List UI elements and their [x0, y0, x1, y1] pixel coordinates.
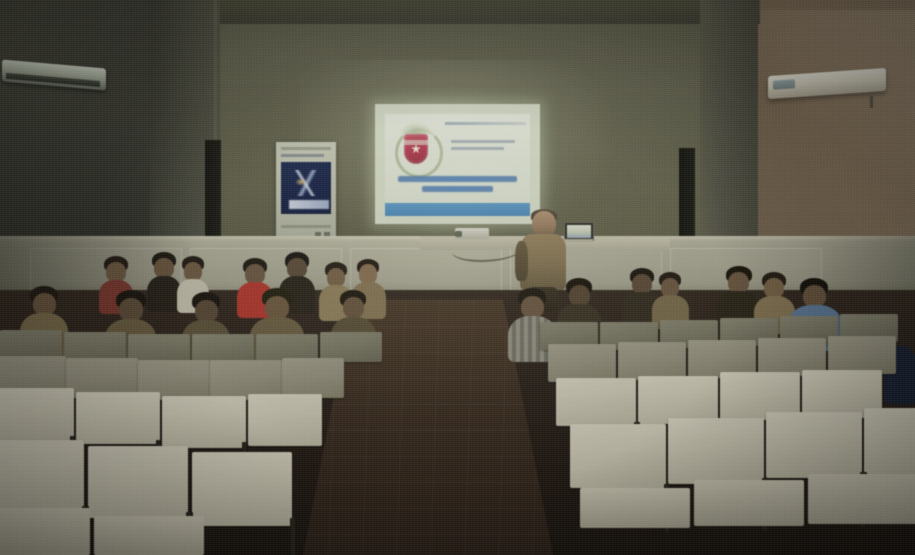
attendee-head — [119, 298, 143, 321]
slide-body-text — [451, 140, 524, 154]
attendee-head — [728, 272, 749, 293]
presenter-arm — [515, 241, 528, 281]
chair-seat[interactable] — [0, 508, 90, 555]
empty-chair[interactable] — [248, 394, 322, 446]
empty-chair[interactable] — [556, 378, 636, 426]
attendee-head — [154, 258, 174, 278]
air-conditioner-right-vent — [773, 79, 795, 90]
attendee-head — [106, 262, 126, 282]
attendee-head — [343, 297, 364, 318]
attendee-head — [195, 300, 218, 322]
slide-title-line — [422, 186, 492, 192]
empty-chair[interactable] — [548, 344, 616, 382]
chair-seat[interactable] — [808, 474, 915, 524]
slide-footer-band — [385, 203, 530, 216]
banner-footer-text — [281, 225, 331, 228]
empty-chair[interactable] — [0, 440, 84, 510]
air-conditioner-pipe — [870, 96, 873, 108]
banner-wordmark — [289, 200, 329, 209]
empty-chair[interactable] — [282, 358, 344, 398]
chair-leg — [290, 518, 297, 555]
laptop-screen — [567, 225, 591, 238]
attendee-head — [569, 285, 590, 306]
empty-chair[interactable] — [668, 418, 764, 484]
empty-chair[interactable] — [766, 412, 862, 478]
empty-chair[interactable] — [618, 342, 686, 380]
attendee-head — [632, 274, 652, 294]
empty-chair[interactable] — [0, 388, 74, 440]
banner-top-text — [281, 147, 331, 150]
stage-soffit — [150, 0, 760, 24]
attendee-head — [803, 285, 826, 307]
empty-chair[interactable] — [192, 452, 292, 526]
empty-chair[interactable] — [162, 396, 246, 448]
attendee-head — [33, 293, 56, 315]
proscenium-right — [700, 0, 758, 262]
empty-chair[interactable] — [828, 336, 896, 374]
banner-subtitle-text — [281, 154, 324, 157]
slide-header-text — [445, 122, 526, 125]
slide-title-text — [390, 176, 525, 196]
attendee-head — [359, 264, 377, 284]
slide-body-line — [451, 140, 515, 143]
chair-seat[interactable] — [94, 516, 204, 555]
screen-surface — [375, 104, 540, 224]
banner-logo-spark — [295, 178, 307, 186]
empty-chair[interactable] — [570, 424, 666, 488]
slide-body-line — [451, 147, 504, 150]
empty-chair[interactable] — [88, 446, 188, 518]
projected-slide — [385, 114, 530, 216]
roll-up-banner — [276, 142, 336, 242]
chair-seat[interactable] — [580, 488, 690, 528]
attendee-head — [764, 278, 784, 298]
attendee-head — [265, 296, 289, 319]
attendee-head — [521, 296, 544, 318]
attendee-head — [245, 264, 265, 284]
coat-of-arms-icon — [395, 122, 437, 176]
projection-screen — [375, 104, 540, 224]
attendee-torso — [147, 276, 181, 312]
projector-lens-icon — [455, 231, 462, 237]
slide-title-line — [398, 176, 517, 182]
attendee-head — [287, 258, 307, 278]
empty-chair[interactable] — [864, 408, 915, 474]
chair-seat[interactable] — [694, 480, 804, 526]
banner-artwork — [281, 162, 331, 214]
empty-chair[interactable] — [76, 392, 160, 444]
empty-chair[interactable] — [638, 376, 718, 424]
auditorium-photo — [0, 0, 915, 555]
